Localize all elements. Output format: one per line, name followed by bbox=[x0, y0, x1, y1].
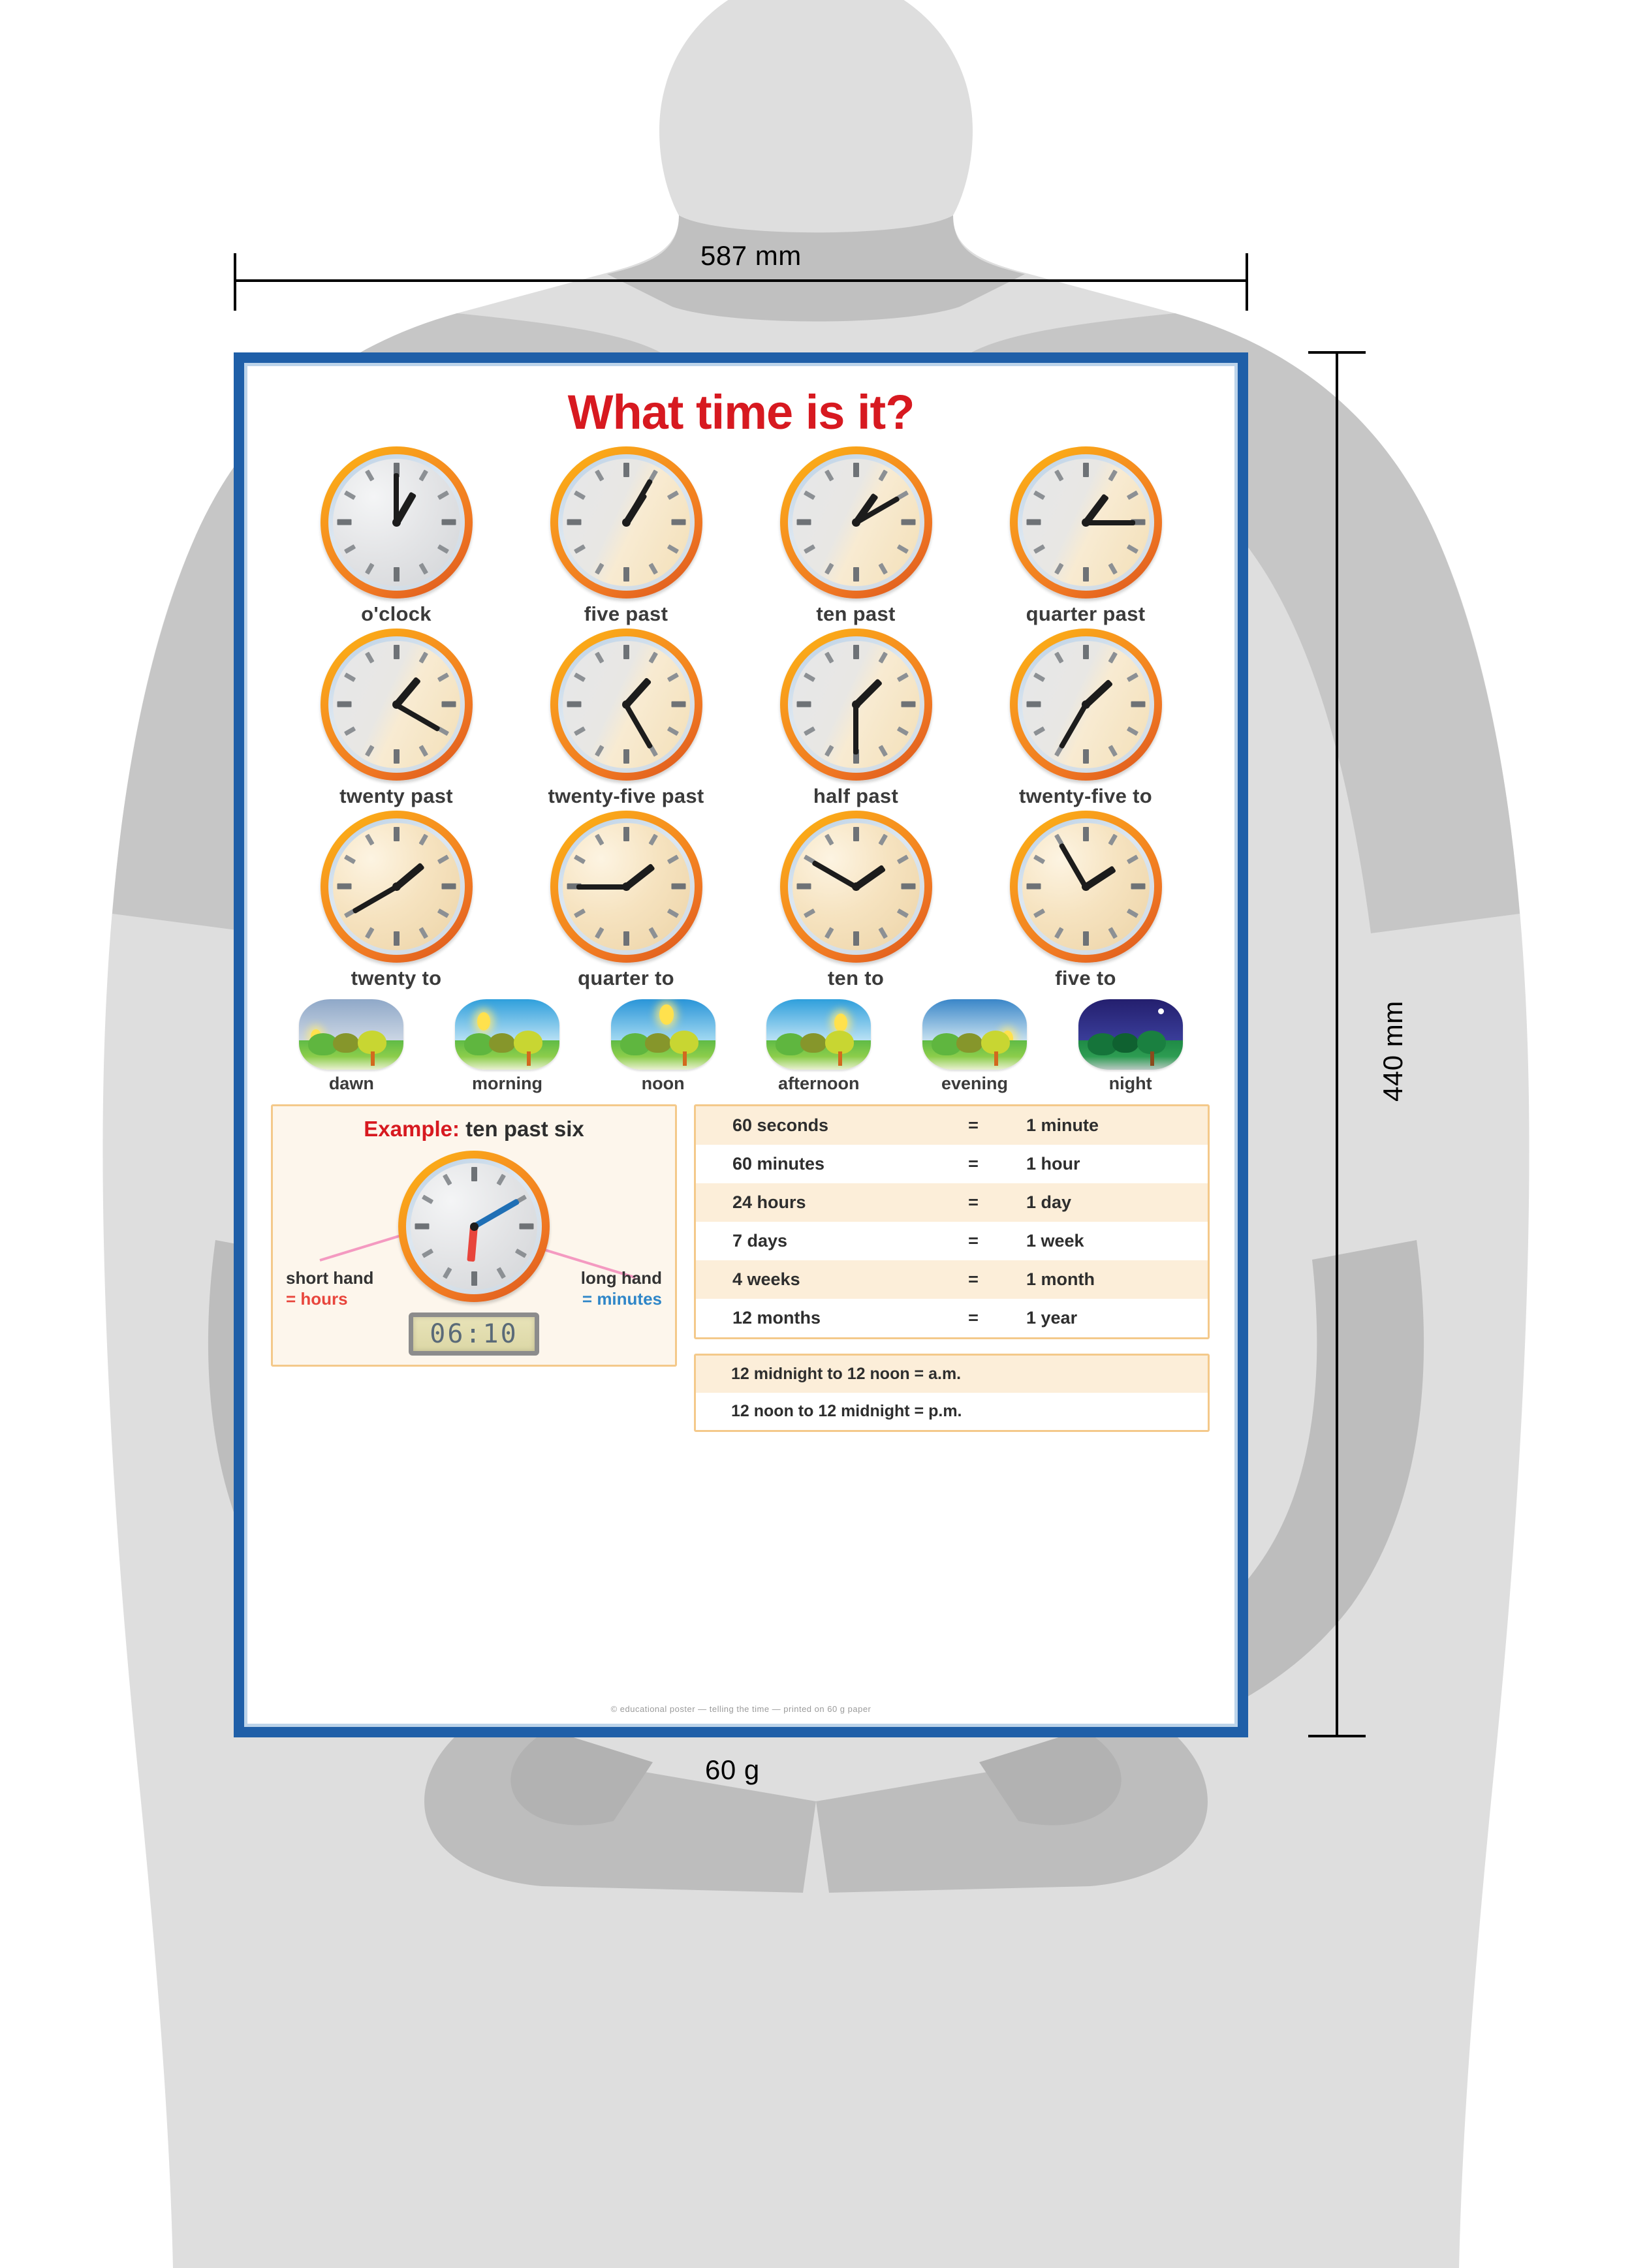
clock-tick bbox=[878, 563, 888, 574]
bush-right bbox=[358, 1031, 386, 1054]
conversion-equals: = bbox=[931, 1269, 1016, 1290]
clock-tick bbox=[1026, 884, 1041, 890]
bush-mid bbox=[489, 1033, 515, 1053]
clock-tick bbox=[496, 1267, 506, 1279]
clock-tick bbox=[415, 1224, 429, 1230]
clock-tick bbox=[648, 563, 658, 574]
clock-cell: quarter to bbox=[544, 811, 708, 990]
clock-tick bbox=[1033, 672, 1044, 682]
analog-clock bbox=[1010, 811, 1162, 963]
bush-mid bbox=[800, 1033, 826, 1053]
clock-pivot bbox=[622, 518, 631, 527]
clock-tick bbox=[394, 645, 400, 659]
clock-label: quarter past bbox=[1004, 602, 1167, 626]
ampm-box: 12 midnight to 12 noon = a.m.12 noon to … bbox=[694, 1354, 1210, 1432]
clock-tick bbox=[1126, 544, 1138, 554]
clock-tick bbox=[364, 745, 374, 756]
clock-tick bbox=[853, 827, 859, 841]
clock-pivot bbox=[1082, 518, 1090, 527]
height-dimension-line bbox=[1336, 352, 1338, 1737]
analog-clock bbox=[321, 629, 473, 781]
clock-pivot bbox=[852, 518, 860, 527]
analog-clock bbox=[550, 629, 702, 781]
example-clock-area: short hand = hours long hand = minutes bbox=[281, 1148, 667, 1305]
clock-cell: five to bbox=[1004, 811, 1167, 990]
clock-tick bbox=[803, 490, 815, 500]
clock-tick bbox=[1054, 927, 1063, 939]
clock-cell: twenty-five past bbox=[544, 629, 708, 808]
clock-tick bbox=[648, 651, 658, 663]
bush-right bbox=[670, 1031, 698, 1054]
clock-tick bbox=[514, 1249, 526, 1258]
tree-trunk bbox=[527, 1051, 531, 1066]
clock-tick bbox=[1083, 827, 1089, 841]
tree-trunk bbox=[683, 1051, 687, 1066]
conversion-to: 1 day bbox=[1016, 1192, 1208, 1213]
clock-label: quarter to bbox=[544, 967, 708, 990]
clock-tick bbox=[573, 854, 585, 864]
time-of-day-label: dawn bbox=[296, 1074, 407, 1094]
clock-pivot bbox=[392, 700, 401, 709]
clock-minute-hand bbox=[576, 884, 626, 890]
analog-clock bbox=[780, 629, 932, 781]
reference-column: 60 seconds=1 minute60 minutes=1 hour24 h… bbox=[694, 1104, 1210, 1432]
conversion-row: 4 weeks=1 month bbox=[696, 1260, 1208, 1299]
clock-minute-hand bbox=[394, 473, 399, 523]
conversion-equals: = bbox=[931, 1154, 1016, 1174]
conversion-equals: = bbox=[931, 1308, 1016, 1328]
clock-tick bbox=[394, 749, 400, 764]
clock-label: twenty past bbox=[315, 784, 478, 808]
clock-tick bbox=[824, 833, 834, 845]
analog-clock bbox=[1010, 446, 1162, 598]
clock-tick bbox=[394, 567, 400, 582]
clock-tick bbox=[667, 909, 678, 918]
clock-tick bbox=[343, 854, 355, 864]
clock-pivot bbox=[622, 882, 631, 891]
clock-tick bbox=[1126, 854, 1138, 864]
clock-tick bbox=[418, 745, 428, 756]
time-of-day-cell: evening bbox=[919, 999, 1030, 1094]
clock-tick bbox=[594, 563, 604, 574]
bush-right bbox=[825, 1031, 854, 1054]
clock-tick bbox=[853, 463, 859, 477]
clock-label: ten to bbox=[774, 967, 937, 990]
clock-tick bbox=[343, 672, 355, 682]
clock-tick bbox=[896, 854, 908, 864]
height-dimension-label: 440 mm bbox=[1377, 1001, 1409, 1102]
clock-tick bbox=[1126, 726, 1138, 736]
clock-tick bbox=[824, 927, 834, 939]
time-of-day-label: noon bbox=[608, 1074, 719, 1094]
clock-tick bbox=[573, 909, 585, 918]
clock-tick bbox=[1108, 745, 1118, 756]
clock-tick bbox=[1126, 909, 1138, 918]
clock-cell: twenty-five to bbox=[1004, 629, 1167, 808]
width-dimension-label: 587 mm bbox=[700, 240, 802, 272]
conversion-equals: = bbox=[931, 1231, 1016, 1251]
clock-label: twenty-five to bbox=[1004, 784, 1167, 808]
conversion-row: 24 hours=1 day bbox=[696, 1183, 1208, 1222]
clock-tick bbox=[441, 520, 456, 525]
clock-tick bbox=[803, 672, 815, 682]
conversion-from: 7 days bbox=[696, 1231, 931, 1251]
clock-tick bbox=[567, 520, 581, 525]
clock-tick bbox=[1054, 469, 1063, 481]
conversion-to: 1 year bbox=[1016, 1308, 1208, 1328]
analog-clock bbox=[550, 811, 702, 963]
clock-tick bbox=[1108, 927, 1118, 939]
clock-tick bbox=[1033, 909, 1044, 918]
clock-row: twenty toquarter toten tofive to bbox=[254, 811, 1228, 990]
clock-tick bbox=[896, 544, 908, 554]
clock-tick bbox=[1108, 563, 1118, 574]
clock-pivot bbox=[622, 700, 631, 709]
clock-tick bbox=[573, 726, 585, 736]
clock-tick bbox=[671, 884, 685, 890]
clock-tick bbox=[853, 931, 859, 946]
clock-tick bbox=[337, 884, 351, 890]
clock-row: twenty pasttwenty-five pasthalf pasttwen… bbox=[254, 629, 1228, 808]
conversions-table: 60 seconds=1 minute60 minutes=1 hour24 h… bbox=[694, 1104, 1210, 1339]
clock-pivot bbox=[392, 882, 401, 891]
clock-tick bbox=[418, 563, 428, 574]
width-dimension-line bbox=[235, 279, 1248, 282]
clock-tick bbox=[671, 702, 685, 707]
time-of-day-cell: afternoon bbox=[763, 999, 874, 1094]
analog-clock bbox=[550, 446, 702, 598]
conversion-row: 12 months=1 year bbox=[696, 1299, 1208, 1337]
clock-tick bbox=[803, 544, 815, 554]
ampm-row: 12 noon to 12 midnight = p.m. bbox=[696, 1393, 1208, 1430]
short-hand-value: = hours bbox=[286, 1289, 373, 1309]
clock-cell: ten past bbox=[774, 446, 937, 626]
clock-tick bbox=[437, 544, 448, 554]
conversion-from: 4 weeks bbox=[696, 1269, 931, 1290]
bush-mid bbox=[1112, 1033, 1138, 1053]
ampm-row: 12 midnight to 12 noon = a.m. bbox=[696, 1356, 1208, 1393]
clock-row: o'clockfive pastten pastquarter past bbox=[254, 446, 1228, 626]
long-hand-value: = minutes bbox=[581, 1289, 662, 1309]
width-dimension-tick-right bbox=[1246, 253, 1248, 311]
clock-tick bbox=[853, 645, 859, 659]
example-clock-pivot bbox=[470, 1222, 479, 1231]
clock-tick bbox=[519, 1224, 533, 1230]
clock-tick bbox=[573, 672, 585, 682]
bush-right bbox=[1137, 1031, 1166, 1054]
conversion-from: 12 months bbox=[696, 1308, 931, 1328]
clock-tick bbox=[1054, 563, 1063, 574]
tree-trunk bbox=[1150, 1051, 1154, 1066]
clock-tick bbox=[878, 833, 888, 845]
clock-tick bbox=[623, 931, 629, 946]
clock-tick bbox=[421, 1194, 433, 1204]
clock-tick bbox=[594, 469, 604, 481]
clock-tick bbox=[623, 463, 629, 477]
clock-tick bbox=[442, 1267, 452, 1279]
clock-tick bbox=[667, 854, 678, 864]
clock-cell: ten to bbox=[774, 811, 937, 990]
clock-tick bbox=[896, 909, 908, 918]
conversion-equals: = bbox=[931, 1192, 1016, 1213]
clock-tick bbox=[667, 490, 678, 500]
clock-tick bbox=[418, 651, 428, 663]
width-dimension-tick-left bbox=[234, 253, 236, 311]
clock-tick bbox=[573, 544, 585, 554]
example-clock bbox=[398, 1151, 550, 1302]
clock-tick bbox=[418, 927, 428, 939]
short-hand-label: short hand bbox=[286, 1268, 373, 1288]
clock-tick bbox=[824, 651, 834, 663]
clock-tick bbox=[364, 563, 374, 574]
clock-tick bbox=[496, 1173, 506, 1185]
clock-tick bbox=[1033, 490, 1044, 500]
clock-tick bbox=[364, 833, 374, 845]
conversion-row: 60 minutes=1 hour bbox=[696, 1145, 1208, 1183]
clock-tick bbox=[343, 726, 355, 736]
time-of-day-scene bbox=[766, 999, 871, 1070]
clock-tick bbox=[623, 827, 629, 841]
clock-tick bbox=[623, 567, 629, 582]
clock-label: twenty-five past bbox=[544, 784, 708, 808]
clock-tick bbox=[573, 490, 585, 500]
clock-pivot bbox=[1082, 882, 1090, 891]
clock-tick bbox=[364, 651, 374, 663]
analog-clock bbox=[780, 811, 932, 963]
clock-tick bbox=[364, 927, 374, 939]
short-hand-note: short hand = hours bbox=[286, 1268, 373, 1309]
conversion-row: 7 days=1 week bbox=[696, 1222, 1208, 1260]
clock-tick bbox=[1083, 463, 1089, 477]
clock-tick bbox=[671, 520, 685, 525]
clock-tick bbox=[567, 702, 581, 707]
time-of-day-scene bbox=[1078, 999, 1183, 1070]
clock-tick bbox=[824, 469, 834, 481]
clock-tick bbox=[878, 469, 888, 481]
clock-pivot bbox=[392, 518, 401, 527]
time-of-day-label: night bbox=[1075, 1074, 1186, 1094]
time-of-day-cell: dawn bbox=[296, 999, 407, 1094]
clock-tick bbox=[896, 726, 908, 736]
clock-grid: o'clockfive pastten pastquarter pasttwen… bbox=[254, 446, 1228, 990]
clock-tick bbox=[901, 520, 915, 525]
long-hand-label: long hand bbox=[581, 1268, 662, 1288]
clock-tick bbox=[648, 927, 658, 939]
long-hand-note: long hand = minutes bbox=[581, 1268, 662, 1309]
clock-tick bbox=[824, 563, 834, 574]
clock-label: five to bbox=[1004, 967, 1167, 990]
example-time-text: ten past six bbox=[460, 1117, 584, 1141]
clock-tick bbox=[1083, 567, 1089, 582]
clock-tick bbox=[796, 702, 811, 707]
clock-tick bbox=[1054, 651, 1063, 663]
clock-cell: quarter past bbox=[1004, 446, 1167, 626]
clock-tick bbox=[437, 854, 448, 864]
time-of-day-label: afternoon bbox=[763, 1074, 874, 1094]
clock-tick bbox=[796, 520, 811, 525]
clock-cell: o'clock bbox=[315, 446, 478, 626]
analog-clock bbox=[321, 811, 473, 963]
sun-icon bbox=[659, 1004, 674, 1025]
poster-content: What time is it? o'clockfive pastten pas… bbox=[244, 363, 1238, 1727]
conversion-from: 24 hours bbox=[696, 1192, 931, 1213]
clock-tick bbox=[337, 520, 351, 525]
analog-clock bbox=[1010, 629, 1162, 781]
clock-tick bbox=[1033, 726, 1044, 736]
weight-label: 60 g bbox=[705, 1754, 760, 1786]
height-dimension-tick-bottom bbox=[1308, 1735, 1366, 1737]
height-dimension-tick-top bbox=[1308, 351, 1366, 354]
clock-tick bbox=[1033, 854, 1044, 864]
clock-tick bbox=[667, 544, 678, 554]
poster-frame: What time is it? o'clockfive pastten pas… bbox=[234, 352, 1248, 1737]
clock-tick bbox=[1083, 645, 1089, 659]
clock-minute-hand bbox=[853, 705, 858, 754]
conversion-to: 1 hour bbox=[1016, 1154, 1208, 1174]
digital-clock-display: 06:10 bbox=[409, 1313, 539, 1356]
clock-tick bbox=[364, 469, 374, 481]
time-of-day-label: morning bbox=[452, 1074, 563, 1094]
example-heading: Example: ten past six bbox=[281, 1117, 667, 1142]
clock-minute-hand bbox=[1086, 520, 1135, 525]
clock-tick bbox=[1131, 884, 1145, 890]
clock-tick bbox=[1083, 749, 1089, 764]
clock-tick bbox=[441, 884, 456, 890]
tree-trunk bbox=[838, 1051, 842, 1066]
clock-tick bbox=[437, 909, 448, 918]
clock-tick bbox=[896, 672, 908, 682]
conversion-from: 60 minutes bbox=[696, 1154, 931, 1174]
sun-icon bbox=[477, 1012, 490, 1031]
bush-right bbox=[514, 1031, 542, 1054]
clock-label: five past bbox=[544, 602, 708, 626]
bush-mid bbox=[956, 1033, 982, 1053]
clock-tick bbox=[594, 651, 604, 663]
clock-tick bbox=[803, 726, 815, 736]
bush-mid bbox=[333, 1033, 359, 1053]
clock-tick bbox=[343, 544, 355, 554]
time-of-day-cell: morning bbox=[452, 999, 563, 1094]
clock-pivot bbox=[852, 882, 860, 891]
conversion-from: 60 seconds bbox=[696, 1115, 931, 1136]
clock-tick bbox=[421, 1249, 433, 1258]
clock-cell: five past bbox=[544, 446, 708, 626]
moon-icon bbox=[1158, 1008, 1164, 1014]
clock-tick bbox=[1083, 931, 1089, 946]
clock-tick bbox=[337, 702, 351, 707]
time-of-day-scene bbox=[611, 999, 715, 1070]
clock-tick bbox=[442, 1173, 452, 1185]
tree-trunk bbox=[371, 1051, 375, 1066]
conversion-row: 60 seconds=1 minute bbox=[696, 1106, 1208, 1145]
clock-tick bbox=[1126, 490, 1138, 500]
clock-cell: twenty past bbox=[315, 629, 478, 808]
conversion-to: 1 month bbox=[1016, 1269, 1208, 1290]
clock-tick bbox=[437, 490, 448, 500]
clock-tick bbox=[394, 827, 400, 841]
clock-tick bbox=[441, 702, 456, 707]
clock-label: half past bbox=[774, 784, 937, 808]
clock-tick bbox=[594, 745, 604, 756]
clock-pivot bbox=[1082, 700, 1090, 709]
clock-cell: half past bbox=[774, 629, 937, 808]
clock-tick bbox=[1108, 651, 1118, 663]
conversion-equals: = bbox=[931, 1115, 1016, 1136]
poster-title: What time is it? bbox=[254, 384, 1228, 440]
clock-tick bbox=[437, 672, 448, 682]
clock-tick bbox=[623, 645, 629, 659]
clock-tick bbox=[1126, 672, 1138, 682]
time-of-day-scene bbox=[455, 999, 559, 1070]
screenshot-stage: 587 mm 440 mm 60 g What time is it? o'cl… bbox=[0, 0, 1632, 2268]
clock-tick bbox=[594, 833, 604, 845]
clock-tick bbox=[803, 909, 815, 918]
clock-tick bbox=[471, 1167, 477, 1181]
clock-label: ten past bbox=[774, 602, 937, 626]
clock-tick bbox=[418, 833, 428, 845]
time-of-day-label: evening bbox=[919, 1074, 1030, 1094]
time-of-day-scene bbox=[299, 999, 403, 1070]
time-of-day-cell: night bbox=[1075, 999, 1186, 1094]
clock-tick bbox=[623, 749, 629, 764]
clock-tick bbox=[667, 726, 678, 736]
clock-tick bbox=[878, 651, 888, 663]
clock-tick bbox=[1033, 544, 1044, 554]
clock-tick bbox=[796, 884, 811, 890]
clock-tick bbox=[901, 884, 915, 890]
time-of-day-scene bbox=[922, 999, 1027, 1070]
clock-tick bbox=[394, 931, 400, 946]
clock-tick bbox=[1108, 833, 1118, 845]
example-panel: Example: ten past six short hand = hours… bbox=[271, 1104, 677, 1367]
clock-tick bbox=[878, 927, 888, 939]
clock-tick bbox=[878, 745, 888, 756]
bush-right bbox=[981, 1031, 1010, 1054]
clock-tick bbox=[901, 702, 915, 707]
clock-pivot bbox=[852, 700, 860, 709]
clock-cell: twenty to bbox=[315, 811, 478, 990]
clock-tick bbox=[418, 469, 428, 481]
analog-clock bbox=[321, 446, 473, 598]
bottom-panels: Example: ten past six short hand = hours… bbox=[254, 1094, 1228, 1432]
poster-footer-text: © educational poster — telling the time … bbox=[247, 1704, 1234, 1715]
clock-tick bbox=[648, 833, 658, 845]
time-of-day-cell: noon bbox=[608, 999, 719, 1094]
analog-clock bbox=[780, 446, 932, 598]
clock-tick bbox=[343, 490, 355, 500]
bush-mid bbox=[645, 1033, 671, 1053]
time-of-day-row: dawnmorningnoonafternooneveningnight bbox=[254, 999, 1228, 1094]
clock-tick bbox=[853, 567, 859, 582]
tree-trunk bbox=[994, 1051, 998, 1066]
clock-tick bbox=[824, 745, 834, 756]
clock-tick bbox=[1131, 702, 1145, 707]
clock-label: o'clock bbox=[315, 602, 478, 626]
conversion-to: 1 minute bbox=[1016, 1115, 1208, 1136]
clock-tick bbox=[1026, 702, 1041, 707]
conversion-to: 1 week bbox=[1016, 1231, 1208, 1251]
clock-label: twenty to bbox=[315, 967, 478, 990]
clock-tick bbox=[594, 927, 604, 939]
clock-tick bbox=[1108, 469, 1118, 481]
clock-tick bbox=[667, 672, 678, 682]
clock-tick bbox=[471, 1271, 477, 1286]
example-keyword: Example: bbox=[364, 1117, 460, 1141]
clock-tick bbox=[1026, 520, 1041, 525]
